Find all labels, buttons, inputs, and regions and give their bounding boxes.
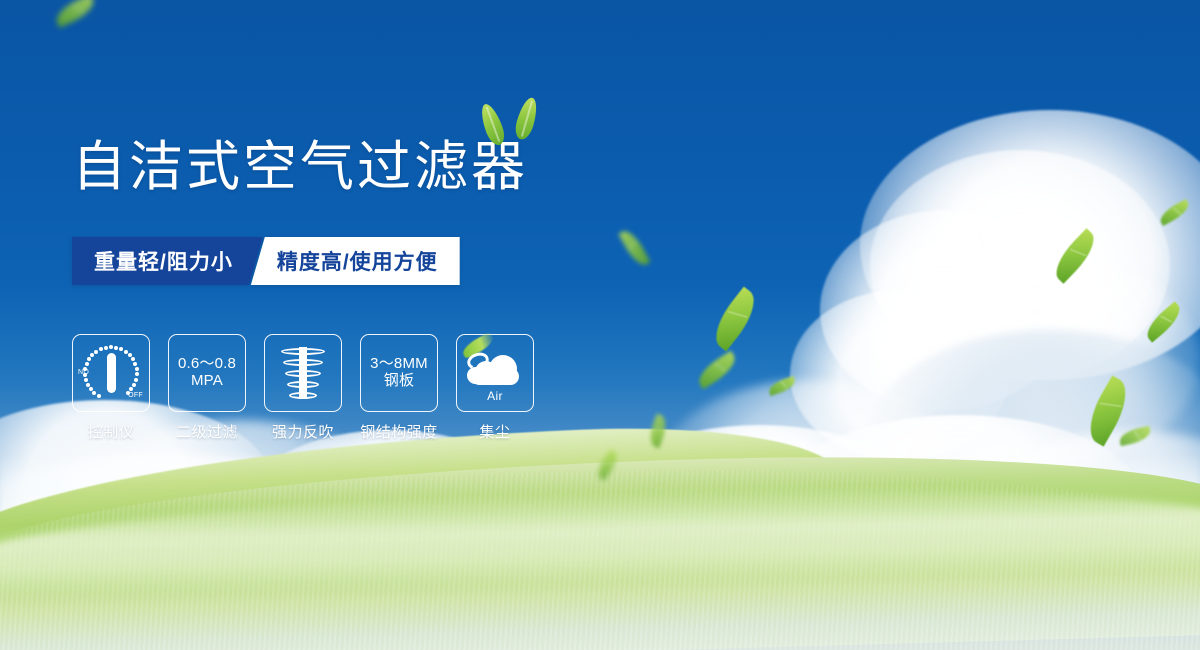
dial-tick bbox=[90, 353, 94, 357]
feature-tag-bar: 重量轻/阻力小 精度高/使用方便 bbox=[72, 237, 460, 285]
dial-tick bbox=[104, 346, 108, 350]
dial-switch-icon: NO OFF bbox=[78, 341, 144, 405]
feature-icon-box: 3～8MM钢板 bbox=[360, 334, 438, 412]
dial-tick bbox=[119, 347, 123, 351]
dial-tick bbox=[126, 391, 130, 395]
dial-tick bbox=[131, 357, 135, 361]
feature-label: 二级过滤 bbox=[168, 421, 246, 442]
dial-tick bbox=[129, 387, 133, 391]
dial-tick bbox=[135, 372, 139, 376]
blowback-rings-icon bbox=[279, 345, 327, 401]
blow-ring bbox=[285, 370, 321, 377]
feature-label: 钢结构强度 bbox=[360, 421, 438, 442]
blow-ring bbox=[289, 392, 317, 399]
title-leaf-pair-icon bbox=[470, 95, 560, 151]
dial-tick bbox=[89, 387, 93, 391]
dial-tick bbox=[109, 345, 113, 349]
dial-off-label: OFF bbox=[128, 392, 143, 399]
dial-tick bbox=[87, 357, 91, 361]
dial-tick bbox=[86, 383, 90, 387]
dial-tick bbox=[92, 391, 96, 395]
dial-tick bbox=[97, 394, 101, 398]
page-title: 自洁式空气过滤器 bbox=[72, 140, 528, 194]
tag-secondary: 精度高/使用方便 bbox=[251, 237, 460, 285]
dial-tick bbox=[83, 373, 87, 377]
air-label: Air bbox=[465, 389, 525, 403]
blow-ring bbox=[283, 359, 323, 366]
feature-item-steel[interactable]: 3～8MM钢板 钢结构强度 bbox=[360, 334, 438, 442]
air-cloud-icon: Air bbox=[465, 345, 525, 401]
title-block: 自洁式空气过滤器 bbox=[72, 140, 528, 194]
dial-lever bbox=[107, 353, 116, 393]
feature-item-blowback[interactable]: 强力反吹 bbox=[264, 334, 342, 442]
blow-ring bbox=[281, 348, 325, 355]
steel-plate-text-icon: 3～8MM钢板 bbox=[370, 356, 428, 390]
feature-icon-box bbox=[264, 334, 342, 412]
feature-item-dust[interactable]: Air 集尘 bbox=[456, 334, 534, 442]
feature-label: 控制仪 bbox=[72, 421, 150, 442]
feature-icon-box: NO OFF bbox=[72, 334, 150, 412]
dial-tick bbox=[99, 347, 103, 351]
feature-list: NO OFF 控制仪 0.6～0.8MPA 二级过滤 强力反吹 bbox=[72, 334, 534, 442]
dial-tick bbox=[85, 362, 89, 366]
leaf-left-icon bbox=[477, 101, 508, 147]
dial-tick bbox=[94, 350, 98, 354]
feature-label: 集尘 bbox=[456, 421, 534, 442]
feature-icon-box: Air bbox=[456, 334, 534, 412]
blow-ring bbox=[287, 381, 319, 388]
dial-tick bbox=[134, 378, 138, 382]
cloud-base bbox=[471, 368, 519, 385]
product-banner: 自洁式空气过滤器 重量轻/阻力小 精度高/使用方便 NO OFF 控制仪 0.6… bbox=[0, 0, 1200, 650]
leaf-right-icon bbox=[512, 95, 540, 141]
dial-tick bbox=[133, 362, 137, 366]
feature-icon-box: 0.6～0.8MPA bbox=[168, 334, 246, 412]
feature-item-controller[interactable]: NO OFF 控制仪 bbox=[72, 334, 150, 442]
dial-tick bbox=[84, 378, 88, 382]
dial-tick bbox=[135, 367, 139, 371]
dial-tick bbox=[114, 346, 118, 350]
feature-label: 强力反吹 bbox=[264, 421, 342, 442]
feature-item-pressure[interactable]: 0.6～0.8MPA 二级过滤 bbox=[168, 334, 246, 442]
dial-tick bbox=[132, 383, 136, 387]
pressure-text-icon: 0.6～0.8MPA bbox=[178, 356, 236, 390]
tag-primary: 重量轻/阻力小 bbox=[72, 237, 263, 285]
